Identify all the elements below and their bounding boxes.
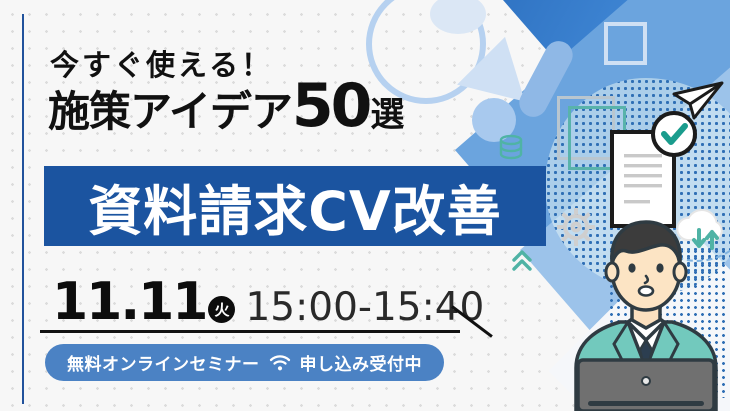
schedule-underline xyxy=(40,330,460,333)
pill-right-label: 申し込み受付中 xyxy=(300,350,423,375)
schedule-row: 11.11 火 15:00-15:40 xyxy=(52,276,484,328)
headline: 施策アイデア 50 選 xyxy=(48,78,404,139)
day-of-week-badge: 火 xyxy=(208,296,235,323)
headline-number: 50 xyxy=(292,82,370,130)
event-date: 11.11 xyxy=(52,276,206,328)
registration-pill[interactable]: 無料オンラインセミナー 申し込み受付中 xyxy=(45,344,444,381)
wifi-icon xyxy=(269,354,291,371)
event-time: 15:00-15:40 xyxy=(245,288,484,327)
seminar-banner: 今すぐ使える！ 施策アイデア 50 選 資料請求CV改善 11.11 火 15:… xyxy=(0,0,730,411)
headline-suffix: 選 xyxy=(370,87,404,136)
page-title: 資料請求CV改善 xyxy=(88,167,501,246)
pill-left-label: 無料オンラインセミナー xyxy=(67,350,260,375)
title-box: 資料請求CV改善 xyxy=(44,166,546,246)
businessman-with-laptop-illustration xyxy=(556,218,730,411)
headline-main: 施策アイデア xyxy=(48,78,292,139)
